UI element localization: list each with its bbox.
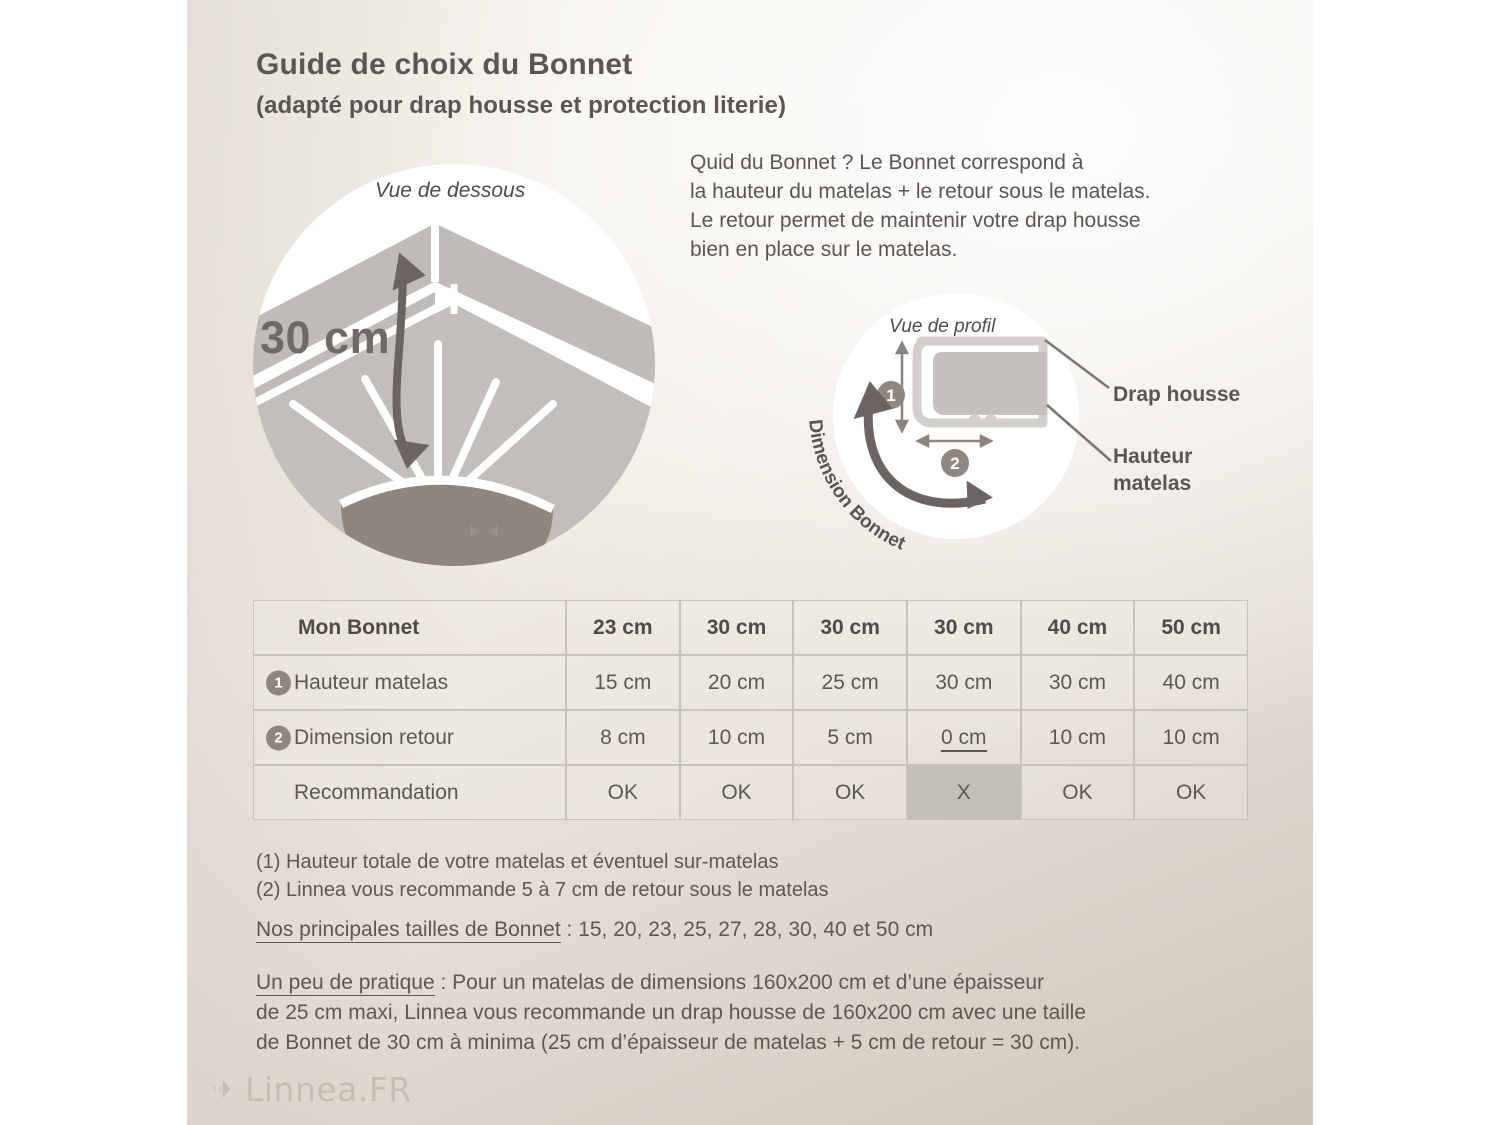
practice-line-2: de 25 cm maxi, Linnea vous recommande un… — [256, 998, 1266, 1028]
callout-hauteur-line-1: Hauteur — [1113, 443, 1253, 470]
underlined-value: 0 cm — [941, 726, 987, 752]
footnote-2: (2) Linnea vous recommande 5 à 7 cm de r… — [256, 876, 1256, 904]
table-cell: 0 cm — [907, 710, 1021, 765]
row-badge-2: 2 — [266, 725, 291, 750]
table-cell: 8 cm — [566, 710, 680, 765]
table-cell: 30 cm — [793, 600, 907, 655]
table-row-label: Hauteur matelas — [294, 671, 448, 694]
page-title: Guide de choix du Bonnet — [256, 48, 1156, 82]
practice-label: Un peu de pratique — [256, 971, 435, 996]
profile-view-caption: Vue de profil — [889, 316, 995, 338]
table-row-label: Dimension retour — [294, 726, 454, 749]
table-cell: 25 cm — [793, 655, 907, 710]
badge-1-label: 1 — [886, 386, 895, 405]
intro-line-3: Le retour permet de maintenir votre drap… — [690, 206, 1290, 235]
row-badge-1: 1 — [266, 670, 291, 695]
bonnet-measure-label: 30 cm — [260, 312, 390, 364]
table-cell: OK — [1134, 765, 1248, 820]
table-cell: 10 cm — [1021, 710, 1135, 765]
intro-line-4: bien en place sur le matelas. — [690, 235, 1290, 264]
table-row: 2Dimension retour8 cm10 cm5 cm0 cm10 cm1… — [253, 710, 1248, 765]
table-row-label-cell: 1Hauteur matelas — [253, 655, 566, 710]
infographic-page: Guide de choix du Bonnet (adapté pour dr… — [0, 0, 1500, 1125]
page-subtitle: (adapté pour drap housse et protection l… — [256, 92, 1156, 120]
bonnet-sizing-table: Mon Bonnet23 cm30 cm30 cm30 cm40 cm50 cm… — [253, 600, 1248, 820]
linnea-logo-text: Linnea.FR — [245, 1070, 412, 1109]
table-row: 1Hauteur matelas15 cm20 cm25 cm30 cm30 c… — [253, 655, 1248, 710]
table-cell: OK — [1021, 765, 1135, 820]
practice-line-3: de Bonnet de 30 cm à minima (25 cm d’épa… — [256, 1028, 1266, 1058]
callout-hauteur-line-2: matelas — [1113, 470, 1253, 497]
table-cell: 30 cm — [907, 600, 1021, 655]
table-cell: 10 cm — [1134, 710, 1248, 765]
table-row: RecommandationOKOKOKXOKOK — [253, 765, 1248, 820]
table-cell: 15 cm — [566, 655, 680, 710]
table-cell: 30 cm — [680, 600, 794, 655]
table-cell: 20 cm — [680, 655, 794, 710]
mattress-block — [933, 352, 1047, 415]
table-cell: X — [907, 765, 1021, 820]
practice-line-1: : Pour un matelas de dimensions 160x200 … — [435, 971, 1044, 994]
sizes-value: : 15, 20, 23, 25, 27, 28, 30, 40 et 50 c… — [561, 918, 933, 941]
callout-drap-housse: Drap housse — [1113, 383, 1240, 407]
intro-line-1: Quid du Bonnet ? Le Bonnet correspond à — [690, 148, 1290, 177]
table-cell: OK — [566, 765, 680, 820]
table-cell: 23 cm — [566, 600, 680, 655]
table-row: Mon Bonnet23 cm30 cm30 cm30 cm40 cm50 cm — [253, 600, 1248, 655]
table-cell: 40 cm — [1021, 600, 1135, 655]
bottom-view-caption: Vue de dessous — [375, 179, 525, 203]
linnea-logo[interactable]: Linnea.FR — [210, 1070, 412, 1109]
table-cell: 50 cm — [1134, 600, 1248, 655]
table-row-label-cell: Recommandation — [253, 765, 566, 820]
table-cell: 10 cm — [680, 710, 794, 765]
linnea-diamond-icon — [210, 1077, 236, 1103]
intro-paragraph: Quid du Bonnet ? Le Bonnet correspond à … — [690, 148, 1290, 264]
table-cell: 30 cm — [1021, 655, 1135, 710]
table-row-label: Mon Bonnet — [298, 616, 419, 639]
table-cell: 40 cm — [1134, 655, 1248, 710]
callout-hauteur-matelas: Hauteur matelas — [1113, 443, 1253, 497]
table-cell: OK — [793, 765, 907, 820]
table-cell: OK — [680, 765, 794, 820]
badge-2-label: 2 — [950, 454, 959, 473]
table-cell: 5 cm — [793, 710, 907, 765]
table-cell: 30 cm — [907, 655, 1021, 710]
sizes-label: Nos principales tailles de Bonnet — [256, 918, 561, 943]
table-row-label-cell: 2Dimension retour — [253, 710, 566, 765]
bottom-view-diagram — [253, 164, 655, 566]
table-row-label: Recommandation — [294, 781, 459, 804]
intro-line-2: la hauteur du matelas + le retour sous l… — [690, 177, 1290, 206]
practice-paragraph: Un peu de pratique : Pour un matelas de … — [256, 968, 1266, 1058]
footnote-1: (1) Hauteur totale de votre matelas et é… — [256, 848, 1256, 876]
sizes-line: Nos principales tailles de Bonnet : 15, … — [256, 918, 1256, 942]
table-row-label-cell: Mon Bonnet — [253, 600, 566, 655]
